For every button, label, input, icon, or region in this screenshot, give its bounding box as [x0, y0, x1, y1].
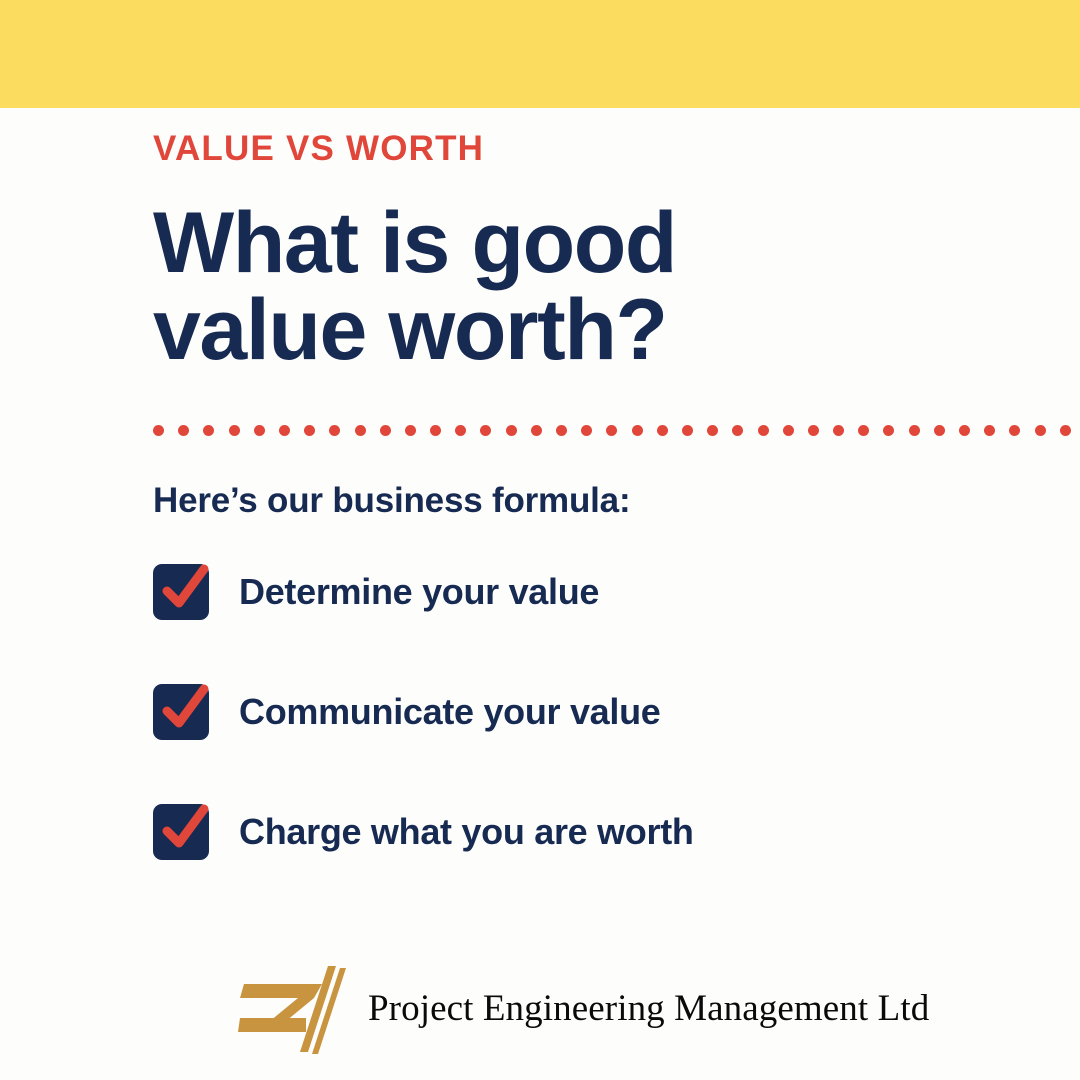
divider-dot: [632, 425, 643, 436]
divider-dot: [304, 425, 315, 436]
divider-dot: [1009, 425, 1020, 436]
divider-dot: [405, 425, 416, 436]
footer-branding: Project Engineering Management Ltd: [236, 962, 929, 1058]
checkbox-checked-icon[interactable]: [153, 804, 209, 860]
divider-dot: [707, 425, 718, 436]
divider-dot: [203, 425, 214, 436]
divider-dot: [229, 425, 240, 436]
top-yellow-band: [0, 0, 1080, 108]
divider-dot: [732, 425, 743, 436]
divider-dot: [758, 425, 769, 436]
divider-dot: [455, 425, 466, 436]
checklist-item-label: Charge what you are worth: [239, 811, 694, 853]
checklist-item-label: Communicate your value: [239, 691, 661, 733]
divider-dot: [430, 425, 441, 436]
poster-canvas: VALUE VS WORTH What is good value worth?…: [0, 0, 1080, 1080]
divider-dot: [984, 425, 995, 436]
divider-dot: [480, 425, 491, 436]
divider-dot: [556, 425, 567, 436]
divider-dot: [934, 425, 945, 436]
checkbox-checked-icon[interactable]: [153, 564, 209, 620]
checkbox-checked-icon[interactable]: [153, 684, 209, 740]
divider-dot: [606, 425, 617, 436]
checklist-item-label: Determine your value: [239, 571, 599, 613]
page-title: What is good value worth?: [153, 200, 1033, 375]
divider-dot: [808, 425, 819, 436]
divider-dot: [1035, 425, 1046, 436]
dotted-divider: [153, 423, 933, 437]
divider-dot: [783, 425, 794, 436]
divider-dot: [178, 425, 189, 436]
company-name: Project Engineering Management Ltd: [368, 987, 929, 1034]
poster-content: VALUE VS WORTH What is good value worth?…: [153, 108, 1033, 861]
divider-dot: [657, 425, 668, 436]
divider-dot: [153, 425, 164, 436]
divider-dot: [355, 425, 366, 436]
divider-dot: [858, 425, 869, 436]
divider-dot: [581, 425, 592, 436]
checklist-item[interactable]: Determine your value: [153, 563, 1033, 621]
page-title-line-2: value worth?: [153, 287, 1033, 375]
pem-beam-logo-icon: [236, 962, 358, 1058]
divider-dot: [329, 425, 340, 436]
eyebrow-label: VALUE VS WORTH: [153, 131, 1033, 168]
divider-dot: [883, 425, 894, 436]
divider-dot: [279, 425, 290, 436]
page-title-line-1: What is good: [153, 200, 1033, 288]
divider-dot: [531, 425, 542, 436]
section-subheading: Here’s our business formula:: [153, 481, 1033, 521]
divider-dot: [254, 425, 265, 436]
divider-dot: [1060, 425, 1071, 436]
checklist-item[interactable]: Communicate your value: [153, 683, 1033, 741]
checklist-item[interactable]: Charge what you are worth: [153, 803, 1033, 861]
divider-dot: [506, 425, 517, 436]
divider-dot: [959, 425, 970, 436]
divider-dot: [682, 425, 693, 436]
divider-dot: [833, 425, 844, 436]
divider-dot: [380, 425, 391, 436]
divider-dot: [909, 425, 920, 436]
checklist: Determine your valueCommunicate your val…: [153, 563, 1033, 861]
